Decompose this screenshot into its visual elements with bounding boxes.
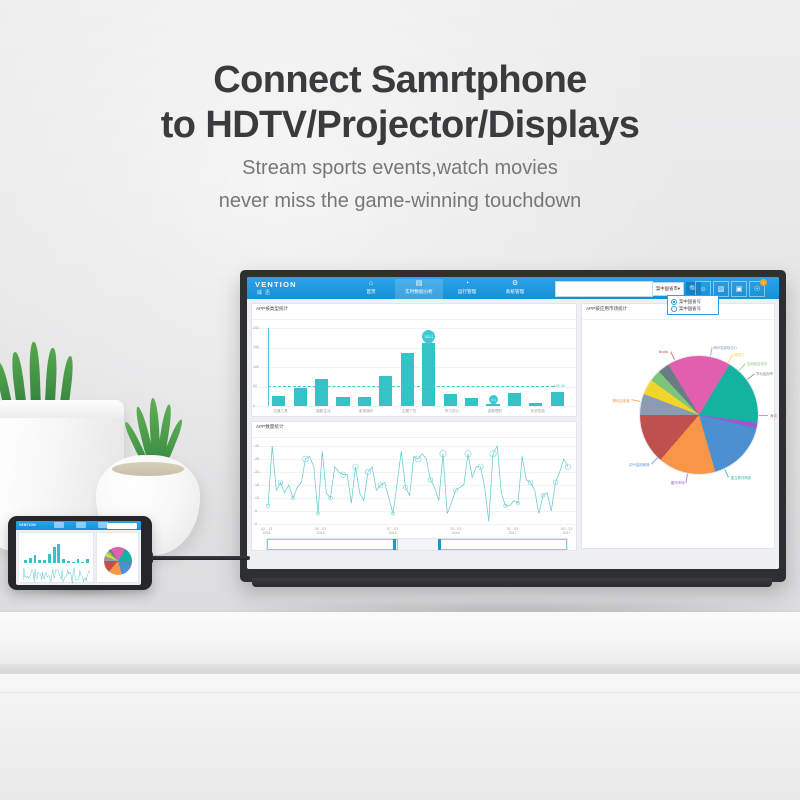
y-axis-tick: 200 [253, 326, 259, 330]
phone-bar-chart [23, 537, 90, 563]
nav-item-home[interactable]: ⌂ 首页 [347, 279, 395, 299]
chart-icon: ▧ [718, 285, 725, 293]
card-app-by-type: APP按类型统计 050100150200▸50.06162.26.4交通工具摄… [251, 303, 577, 417]
phone-bar [43, 560, 46, 563]
gridline [252, 328, 576, 329]
headline-line-1: Connect Samrtphone [0, 58, 800, 103]
search-input[interactable] [555, 281, 653, 297]
phone-line-chart [23, 567, 90, 585]
slider-handle-right[interactable] [438, 539, 441, 550]
bar-chart-icon: ▤ [395, 279, 443, 288]
pie-leader-line [686, 474, 689, 483]
y-axis-tick: 50 [253, 384, 257, 388]
bar-chart: 050100150200▸50.06162.26.4交通工具摄影生活影音娱乐主题… [252, 320, 576, 420]
left-column: APP按类型统计 050100150200▸50.06162.26.4交通工具摄… [251, 303, 577, 565]
cabinet-top [0, 612, 800, 672]
nav-label: 运行管理 [443, 288, 491, 295]
slider-handle-left[interactable] [393, 539, 396, 550]
dashboard-body: APP按类型统计 050100150200▸50.06162.26.4交通工具摄… [247, 299, 779, 569]
cabinet-seam [0, 692, 800, 693]
user-icon: ☺ [699, 286, 706, 293]
tv-stand [252, 578, 772, 587]
home-icon: ⌂ [347, 279, 395, 288]
phone-bar [48, 554, 51, 563]
pie-slice-label: 腾讯应用宝 [613, 398, 630, 403]
x-axis-tick: 交通工具 [273, 409, 287, 414]
x-axis-tick: 影音娱乐 [359, 409, 373, 414]
bar[interactable] [272, 396, 285, 406]
phone-right-card [96, 532, 139, 583]
pie-graphic[interactable] [640, 356, 758, 474]
nav-item-realtime-analysis[interactable]: ▤ 实时数据分析 [395, 279, 443, 299]
gridline [252, 406, 576, 407]
window-icon: ▣ [736, 285, 743, 293]
phone-app-logo: VENTION [19, 523, 36, 527]
x-axis-tick: 03 - 212017 [561, 527, 572, 535]
x-axis-tick: 10 - 012016 [450, 527, 461, 535]
hdmi-cable [145, 556, 250, 560]
slider-range-left[interactable] [267, 539, 398, 550]
television: VENTION 威迅 ⌂ 首页 ▤ 实时数据分析 ◔ 运行 [240, 270, 786, 582]
phone-nav-item[interactable] [76, 522, 86, 528]
bar[interactable] [379, 376, 392, 406]
gridline [252, 348, 576, 349]
gridline [252, 367, 576, 368]
smartphone: VENTION [8, 516, 152, 590]
tv-screen: VENTION 威迅 ⌂ 首页 ▤ 实时数据分析 ◔ 运行 [247, 277, 779, 569]
pie-slice-label: 海词 [770, 413, 777, 418]
pie-slice-label: 腾讯嗌部轻中心 [713, 345, 737, 350]
pie-slice-label: 华为应用市 [756, 371, 773, 376]
pie-leader-line [710, 347, 713, 356]
headline-block: Connect Samrtphone to HDTV/Projector/Dis… [0, 58, 800, 214]
bar[interactable] [465, 398, 478, 406]
y-axis [268, 328, 269, 406]
cabinet-edge [0, 664, 800, 674]
nav-label: 首页 [347, 288, 395, 295]
phone-bar [53, 547, 56, 563]
line-series [252, 438, 576, 554]
window-icon-button[interactable]: ▣ [731, 281, 747, 297]
gear-icon: ⚙ [491, 279, 539, 288]
pie-slice-label: 酷市市场 [671, 480, 685, 485]
pie-slice-label: 金立软件商店 [731, 475, 751, 480]
range-slider[interactable] [266, 538, 568, 551]
search-scope-select[interactable]: 案中国省市 ▾ [653, 282, 684, 296]
phone-search-input[interactable] [107, 523, 137, 529]
bar[interactable] [529, 403, 542, 406]
nav-item-system[interactable]: ⚙ 系统管理 [491, 279, 539, 299]
bar[interactable] [422, 343, 435, 406]
pie-leader-line [759, 415, 768, 416]
notification-badge: 1 [760, 279, 767, 286]
x-tick-year: 2016 [387, 531, 398, 535]
right-column: APP按应用市场统计 腾讯嗌部轻中心同场门应用嗌应用中华为应用市海词金立软件商店… [581, 303, 775, 565]
app-header: VENTION 威迅 ⌂ 首页 ▤ 实时数据分析 ◔ 运行 [247, 277, 779, 299]
x-tick-year: 2016 [450, 531, 461, 535]
app-logo: VENTION [255, 280, 297, 289]
bar[interactable] [401, 353, 414, 406]
x-axis-tick: 07 - 012016 [387, 527, 398, 535]
subheadline-line-2: never miss the game-winning touchdown [0, 189, 800, 214]
planter-large-rim [0, 400, 124, 418]
bell-icon: ☉ [754, 285, 760, 293]
card-title: APP按类型统计 [252, 304, 576, 320]
search-scope-dropdown[interactable]: 案中国省号 案中国省号 [667, 295, 719, 315]
threshold-line [268, 386, 554, 387]
phone-left-cards [18, 532, 94, 583]
x-tick-year: 2016 [315, 531, 326, 535]
phone-bar [34, 555, 37, 563]
pie-chart: 腾讯嗌部轻中心同场门应用嗌应用中华为应用市海词金立软件商店酷市市场中兴应用商场腾… [582, 320, 774, 552]
pie-slice-label: 应用嗌应用中 [747, 361, 767, 366]
bar[interactable] [358, 397, 371, 406]
bar[interactable] [508, 393, 521, 406]
phone-bar [72, 562, 75, 563]
phone-screen: VENTION [16, 521, 141, 585]
phone-bar [29, 558, 32, 563]
phone-dashboard-body [16, 530, 141, 585]
app-logo-sub: 威迅 [257, 289, 273, 296]
dropdown-option-label: 案中国省号 [679, 305, 701, 312]
pie-container [640, 356, 758, 474]
subheadline-line-1: Stream sports events,watch movies [0, 156, 800, 181]
dropdown-option[interactable]: 案中国省号 [671, 305, 715, 312]
x-axis-tick: 主题个性 [402, 409, 416, 414]
dropdown-option-label: 案中国省号 [679, 298, 701, 305]
phone-nav [54, 522, 108, 528]
pie-slice-label: 同场门 [734, 352, 744, 357]
nav-item-operations[interactable]: ◔ 运行管理 [443, 279, 491, 299]
radio-selected-icon [671, 299, 677, 305]
search-scope-label: 案中国省市 [656, 286, 678, 292]
x-tick-year: 2016 [261, 531, 272, 535]
phone-bar [57, 544, 60, 563]
slider-range-right[interactable] [438, 539, 567, 550]
nav-label: 系统管理 [491, 288, 539, 295]
phone-bar [81, 562, 84, 563]
card-app-by-market: APP按应用市场统计 腾讯嗌部轻中心同场门应用嗌应用中华为应用市海词金立软件商店… [581, 303, 775, 549]
x-axis-tick: 04 - 012016 [315, 527, 326, 535]
phone-bar [77, 559, 80, 563]
x-axis-tick: 安全性能 [531, 409, 545, 414]
bar[interactable] [336, 397, 349, 406]
phone-bar [86, 559, 89, 563]
card-title: APP数量统计 [252, 422, 576, 438]
x-axis-tick: 金融理财 [488, 409, 502, 414]
product-scene: Connect Samrtphone to HDTV/Projector/Dis… [0, 0, 800, 800]
gauge-icon: ◔ [443, 279, 491, 288]
pie-slice-label: Books [659, 350, 668, 354]
phone-nav-item[interactable] [54, 522, 64, 528]
x-tick-year: 2017 [507, 531, 518, 535]
y-axis-tick: 100 [253, 365, 259, 369]
radio-icon [671, 306, 677, 312]
nav-label: 实时数据分析 [395, 288, 443, 295]
pie-slice-label: 中兴应用商场 [629, 462, 649, 467]
dashboard-app: VENTION 威迅 ⌂ 首页 ▤ 实时数据分析 ◔ 运行 [247, 277, 779, 569]
bar[interactable] [315, 379, 328, 406]
x-axis-tick: 学习办公 [445, 409, 459, 414]
dropdown-option[interactable]: 案中国省号 [671, 298, 715, 305]
x-axis-tick: 01 - 012017 [507, 527, 518, 535]
planter-small-soil [112, 462, 184, 476]
phone-bar [38, 560, 41, 563]
bar[interactable] [551, 392, 564, 406]
x-axis-tick: 摄影生活 [316, 409, 330, 414]
phone-bar [62, 559, 65, 563]
chevron-down-icon: ▾ [678, 286, 680, 292]
phone-pie-chart [104, 547, 132, 575]
bar[interactable] [444, 394, 457, 406]
headline-line-2: to HDTV/Projector/Displays [0, 103, 800, 148]
threshold-label: ▸50.06 [554, 384, 565, 388]
phone-app-header: VENTION [16, 521, 141, 530]
bar[interactable] [294, 388, 307, 406]
y-axis-tick: 150 [253, 345, 259, 349]
line-chart: 05101520253002 - 13201604 - 01201607 - 0… [252, 438, 576, 554]
x-axis-tick: 02 - 132016 [261, 527, 272, 535]
phone-bar [24, 560, 27, 563]
phone-line-series [23, 567, 90, 585]
phone-bar [67, 561, 70, 563]
bell-icon-button[interactable]: ☉ 1 [749, 281, 765, 297]
x-tick-year: 2017 [561, 531, 572, 535]
y-axis-tick: 0 [253, 404, 255, 408]
main-nav: ⌂ 首页 ▤ 实时数据分析 ◔ 运行管理 ⚙ 系 [347, 279, 539, 299]
card-app-count: APP数量统计 05101520253002 - 13201604 - 0120… [251, 421, 577, 551]
